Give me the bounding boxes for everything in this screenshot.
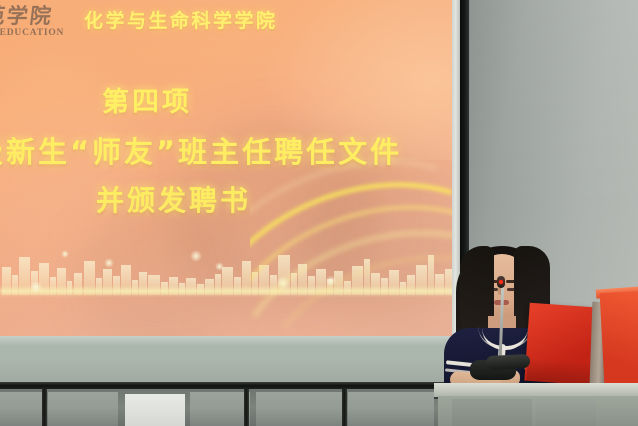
- rail-post: [42, 389, 47, 426]
- glass-pane: [0, 392, 42, 426]
- white-wall-panel: [125, 394, 185, 426]
- glass-pane: [48, 392, 118, 426]
- glass-pane: [190, 392, 250, 426]
- projection-screen: 范学院 OF EDUCATION 化学与生命科学学院 第四项 级新生“师友”班主…: [0, 0, 456, 338]
- folder-shading: [526, 358, 597, 386]
- red-appointment-folder-right-leaf: [600, 291, 638, 385]
- rail-post: [244, 389, 249, 426]
- podium-panel: [536, 399, 596, 426]
- microphone-led-icon: [499, 280, 503, 284]
- rail-post: [342, 389, 347, 426]
- screen-vignette: [0, 0, 456, 338]
- glass-pane: [348, 392, 434, 426]
- microphone-base-plate: [486, 354, 531, 370]
- podium-panel: [452, 399, 532, 426]
- podium-top-surface: [434, 383, 638, 397]
- photo-scene: 范学院 OF EDUCATION 化学与生命科学学院 第四项 级新生“师友”班主…: [0, 0, 638, 426]
- glass-pane: [256, 392, 342, 426]
- wall-below-highlight: [0, 336, 470, 346]
